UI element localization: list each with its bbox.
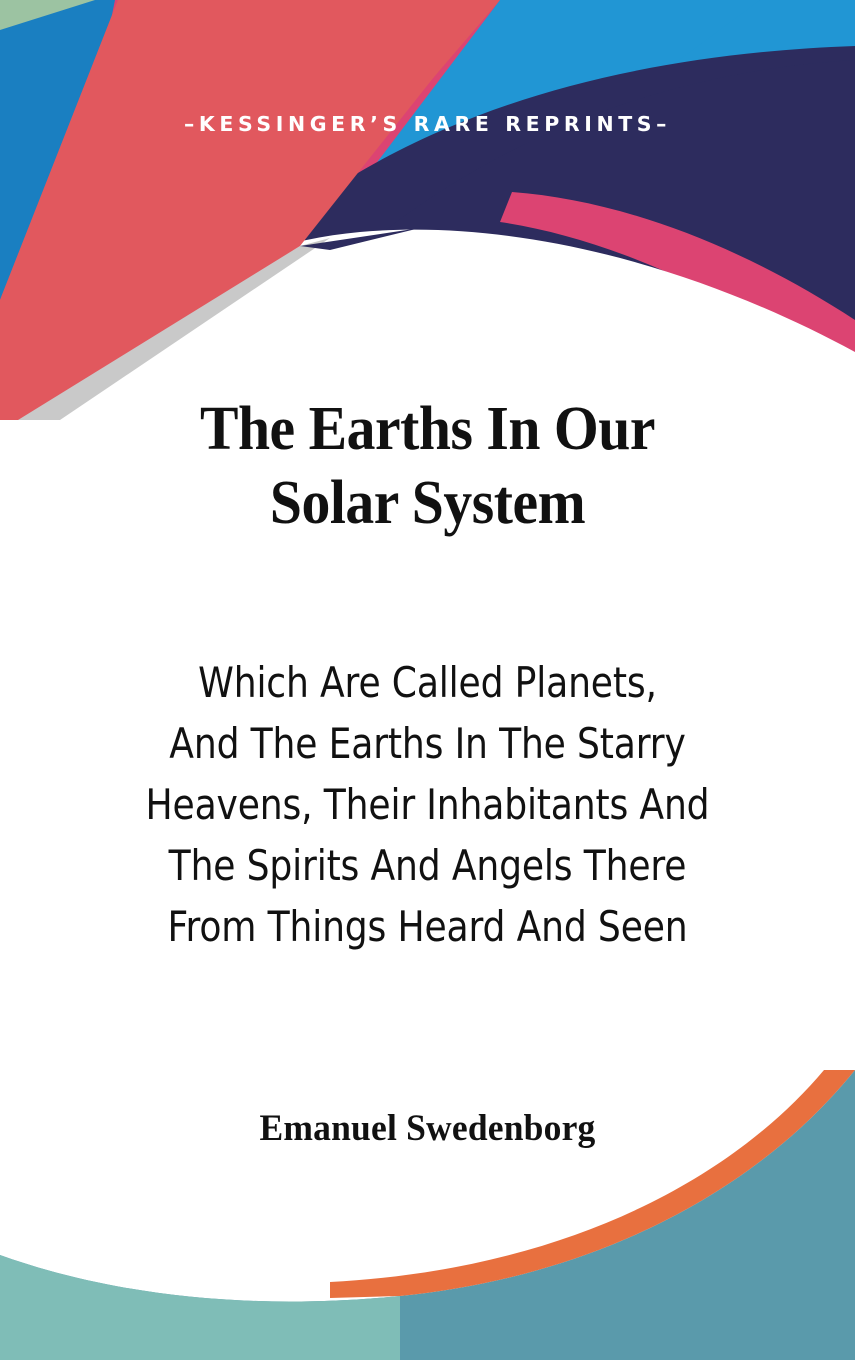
book-title-line-2: Solar System [270, 469, 585, 537]
book-subtitle-line-1: Which Are Called Planets, [107, 652, 748, 713]
book-subtitle-line-4: The Spirits And Angels There [107, 835, 748, 896]
book-subtitle-line-3: Heavens, Their Inhabitants And [107, 774, 748, 835]
book-author: Emanuel Swedenborg [75, 1107, 781, 1150]
book-subtitle: Which Are Called Planets, And The Earths… [107, 652, 748, 957]
book-subtitle-line-2: And The Earths In The Starry [107, 713, 748, 774]
book-cover: –KESSINGER’S RARE REPRINTS– The Earths I… [0, 0, 855, 1360]
book-title: The Earths In Our Solar System [86, 392, 770, 540]
book-title-line-1: The Earths In Our [200, 395, 655, 463]
book-subtitle-line-5: From Things Heard And Seen [107, 896, 748, 957]
imprint-banner-text: –KESSINGER’S RARE REPRINTS– [0, 112, 855, 136]
cover-text-content: The Earths In Our Solar System Which Are… [0, 0, 855, 1360]
